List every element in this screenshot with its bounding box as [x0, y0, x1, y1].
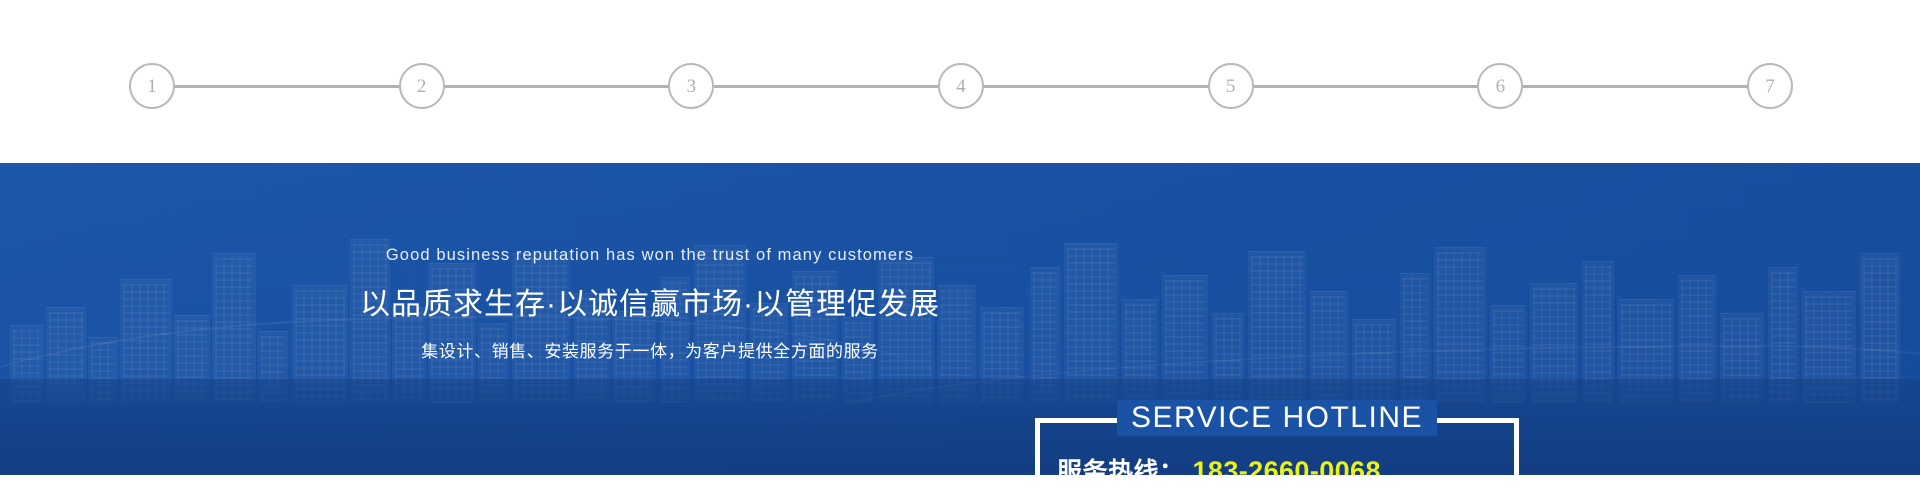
step-node-6[interactable]: 6: [1477, 63, 1523, 109]
step-node-4[interactable]: 4: [938, 63, 984, 109]
step-node-2[interactable]: 2: [399, 63, 445, 109]
step-connector-4: [984, 85, 1208, 88]
service-hotline-box: SERVICE HOTLINE 服务热线： 183-2660-0068 0551…: [1035, 418, 1519, 475]
step-node-1[interactable]: 1: [129, 63, 175, 109]
step-connector-3: [714, 85, 938, 88]
step-node-7[interactable]: 7: [1747, 63, 1793, 109]
slogan-english: Good business reputation has won the tru…: [360, 246, 940, 265]
hotline-title: SERVICE HOTLINE: [1035, 400, 1519, 436]
step-connector-1: [175, 85, 399, 88]
hotline-row-primary: 服务热线： 183-2660-0068: [1035, 452, 1519, 475]
step-connector-5: [1254, 85, 1478, 88]
hotline-phone-primary[interactable]: 183-2660-0068: [1193, 456, 1381, 475]
promo-banner: Good business reputation has won the tru…: [0, 163, 1920, 475]
slogan-chinese-main: 以品质求生存·以诚信赢市场·以管理促发展: [360, 279, 940, 323]
hotline-label: 服务热线：: [1057, 452, 1185, 475]
step-node-5[interactable]: 5: [1208, 63, 1254, 109]
stepper-band: 1234567: [0, 0, 1920, 163]
hotline-numbers: 服务热线： 183-2660-0068 0551-63749777: [1035, 452, 1519, 475]
cityscape-background: [0, 163, 1920, 475]
step-connector-2: [445, 85, 669, 88]
page-root: 1234567 Good business reputation has won…: [0, 0, 1920, 500]
step-connector-6: [1523, 85, 1747, 88]
slogan-chinese-sub: 集设计、销售、安装服务于一体，为客户提供全方面的服务: [360, 337, 940, 362]
step-node-3[interactable]: 3: [668, 63, 714, 109]
slogan-block: Good business reputation has won the tru…: [360, 246, 940, 362]
hotline-title-label: SERVICE HOTLINE: [1117, 400, 1437, 436]
